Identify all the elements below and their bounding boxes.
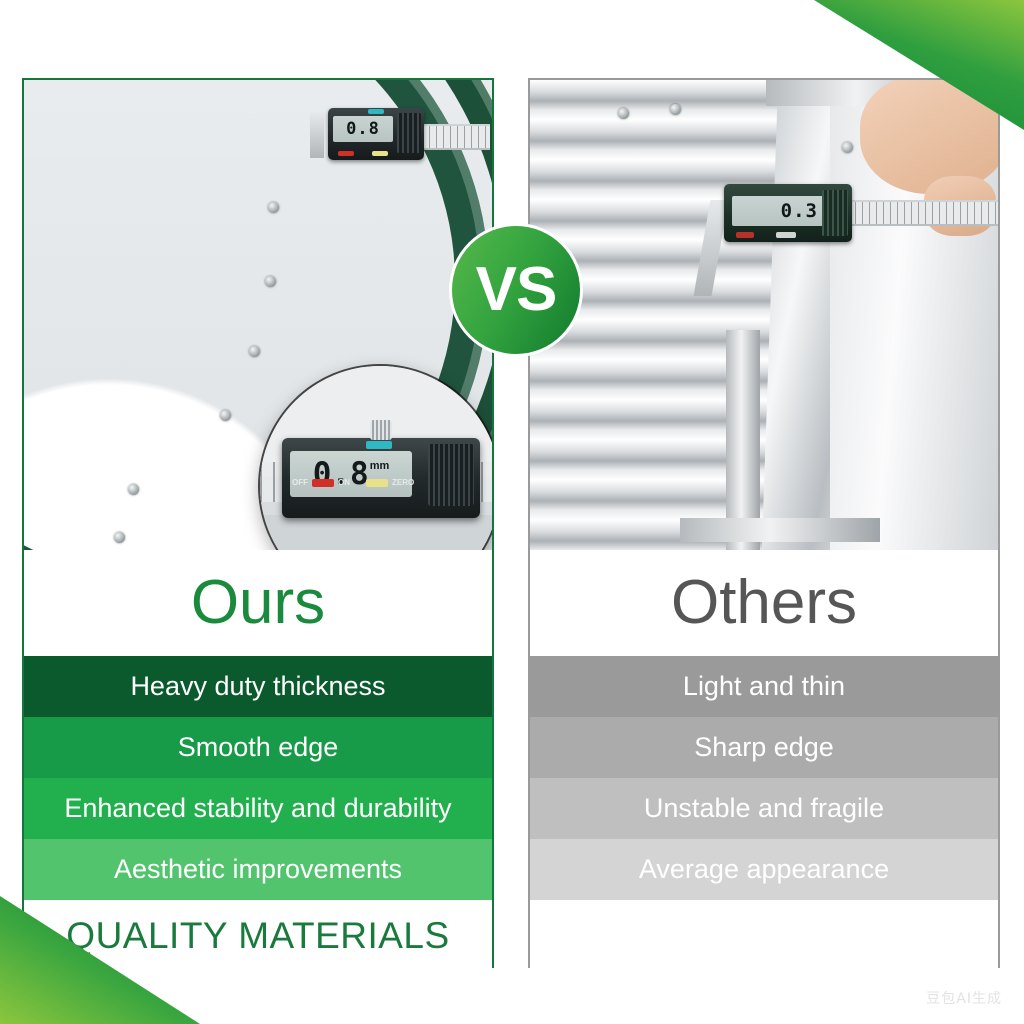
ours-magnifier: 0.8 mm OFF ON ZERO [260,366,492,550]
others-card: 0.3 mm/inch 0.3 mm [528,78,1000,968]
bolt-icon [114,532,125,543]
caliper-zero-button [776,232,796,238]
others-footer-area [530,900,998,972]
ours-feature-label: Smooth edge [178,732,339,763]
caliper-value: 0.3 [781,200,818,222]
bolt-icon [670,104,681,115]
caliper-mode-button [366,441,392,449]
caliper-off-label: OFF [292,478,308,487]
others-feature-row: Light and thin [530,656,998,717]
bolt-icon [220,410,231,421]
magnified-caliper: 0.8 mm OFF ON ZERO [282,438,480,518]
caliper-button-row: OFF ON ZERO [292,452,414,513]
caliper-knurl [397,113,421,153]
ours-feature-label: Heavy duty thickness [130,671,385,702]
ours-heading-area: Ours [24,550,492,656]
ours-feature-label: Aesthetic improvements [114,854,402,885]
bolt-icon [842,142,853,153]
bolt-icon [249,346,260,357]
vs-label: VS [476,259,557,321]
caliper-on-label: ON [338,478,350,487]
ours-card: 0.8 0.8 mm [22,78,494,968]
others-caliper: 0.3 [698,176,998,256]
quality-materials-label: QUALITY MATERIALS [66,915,449,957]
others-feature-row: Average appearance [530,839,998,900]
ours-product-photo: 0.8 0.8 mm [24,80,492,550]
others-heading-area: Others [530,550,998,656]
ours-heading: Ours [191,572,325,634]
others-feature-label: Light and thin [683,671,845,702]
panel-bottom-rail [680,518,880,542]
caliper-knurl [428,444,474,506]
others-feature-list: Light and thin Sharp edge Unstable and f… [530,656,998,900]
ours-feature-row: Aesthetic improvements [24,839,492,900]
caliper-zero-button [372,151,388,156]
caliper-body: 0.8 [328,108,424,160]
caliper-display: 0.3 [732,196,823,226]
others-feature-label: Sharp edge [694,732,834,763]
ours-feature-row: Smooth edge [24,717,492,778]
ai-watermark: 豆包AI生成 [926,988,1002,1008]
others-feature-label: Unstable and fragile [644,793,884,824]
caliper-mode-button [368,109,384,114]
caliper-jaw [310,112,324,158]
caliper-value: 0.8 [346,119,380,139]
bolt-icon [618,108,629,119]
others-heading: Others [671,572,857,634]
bolt-icon [268,202,279,213]
caliper-zero-label: ZERO [392,478,414,487]
caliper-display: 0.8 [333,116,393,142]
caliper-knurl [822,190,848,236]
caliper-scale-bar [848,200,998,226]
others-feature-row: Sharp edge [530,717,998,778]
caliper-power-switch[interactable] [312,479,334,487]
panel-vertical-post [726,330,760,550]
bolt-icon [128,484,139,495]
ours-feature-row: Enhanced stability and durability [24,778,492,839]
others-product-photo: 0.3 mm/inch 0.3 mm [530,80,998,550]
others-feature-label: Average appearance [639,854,889,885]
vs-badge: VS [452,226,580,354]
others-feature-row: Unstable and fragile [530,778,998,839]
caliper-thumb-wheel [370,420,392,440]
caliper-zero-button[interactable] [366,479,388,487]
bolt-icon [265,276,276,287]
caliper-body: 0.3 [724,184,852,242]
ours-feature-row: Heavy duty thickness [24,656,492,717]
caliper-power-switch [338,151,354,156]
ours-feature-list: Heavy duty thickness Smooth edge Enhance… [24,656,492,900]
caliper-power-switch [736,232,754,238]
ours-feature-label: Enhanced stability and durability [64,793,451,824]
comparison-infographic: 0.8 0.8 mm [0,0,1024,1024]
ours-caliper: 0.8 [310,102,490,164]
